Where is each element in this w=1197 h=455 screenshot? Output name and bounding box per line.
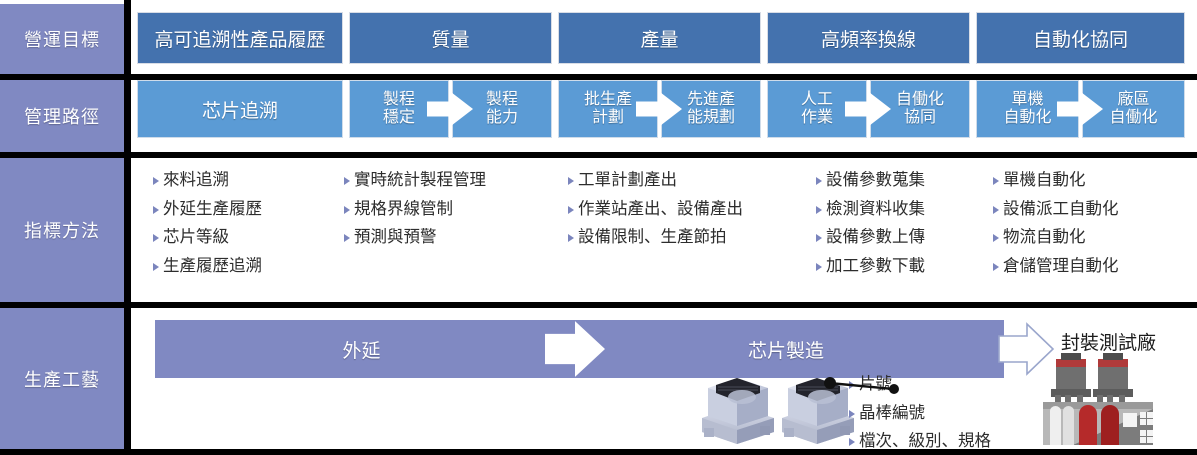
path-label-line2: 計劃: [584, 109, 632, 127]
triangle-bullet-icon: [153, 206, 159, 214]
list-item[interactable]: 檔次、級別、規格: [849, 433, 991, 450]
list-item-label: 芯片等級: [163, 229, 229, 246]
list-item-label: 生產履歷追溯: [163, 258, 262, 275]
callout-leader-line: [821, 376, 907, 400]
path-label-line1: 廠區: [1109, 91, 1157, 109]
list-item[interactable]: 實時統計製程管理: [344, 172, 486, 189]
metric-column-changeover: 設備參數蒐集 檢測資料收集 設備參數上傳 加工參數下載: [816, 172, 925, 286]
triangle-bullet-icon: [568, 177, 574, 185]
triangle-bullet-icon: [568, 234, 574, 242]
path-group-output: 批生產 計劃 先進產 能規劃: [558, 80, 761, 138]
path-label-line2: 作業: [801, 109, 833, 127]
triangle-bullet-icon: [816, 206, 822, 214]
path-label-line2: 自働化: [1109, 109, 1157, 127]
list-item-label: 作業站產出、設備產出: [578, 201, 743, 218]
triangle-bullet-icon: [344, 234, 350, 242]
triangle-bullet-icon: [993, 177, 999, 185]
triangle-bullet-icon: [993, 234, 999, 242]
list-item-label: 設備參數蒐集: [826, 172, 925, 189]
triangle-bullet-icon: [993, 206, 999, 214]
metric-column-quality: 實時統計製程管理 規格界線管制 預測與預警: [344, 172, 486, 258]
triangle-bullet-icon: [153, 234, 159, 242]
list-item[interactable]: 設備限制、生產節拍: [568, 229, 743, 246]
metric-column-automation: 單機自動化 設備派工自動化 物流自動化 倉儲管理自動化: [993, 172, 1119, 286]
list-item-label: 設備派工自動化: [1003, 201, 1119, 218]
list-item[interactable]: 物流自動化: [993, 229, 1119, 246]
objective-label: 產量: [640, 25, 678, 52]
objective-box-output[interactable]: 產量: [558, 12, 761, 64]
path-label-line1: 單機: [1003, 91, 1051, 109]
list-item[interactable]: 外延生產履歷: [153, 201, 262, 218]
sidebar-item-metric-methods[interactable]: 指標方法: [0, 158, 124, 302]
list-item[interactable]: 芯片等級: [153, 229, 262, 246]
list-item[interactable]: 工單計劃產出: [568, 172, 743, 189]
list-item-label: 檔次、級別、規格: [859, 433, 991, 450]
list-item-label: 晶棒編號: [859, 405, 925, 422]
triangle-bullet-icon: [344, 206, 350, 214]
objective-box-line-changeover[interactable]: 高頻率換線: [767, 12, 970, 64]
sidebar-item-label: 營運目標: [24, 26, 100, 52]
metric-methods-pane: 來料追溯 外延生產履歷 芯片等級 生產履歷追溯 實時統計製程管理 規格界線管制 …: [131, 158, 1197, 302]
list-item[interactable]: 生產履歷追溯: [153, 258, 262, 275]
list-item[interactable]: 設備派工自動化: [993, 201, 1119, 218]
triangle-bullet-icon: [816, 177, 822, 185]
objective-box-quality[interactable]: 質量: [349, 12, 552, 64]
objective-box-traceability[interactable]: 高可追溯性產品履歷: [137, 12, 343, 64]
triangle-bullet-icon: [993, 263, 999, 271]
diagram-canvas: 營運目標 管理路徑 指標方法 生產工藝 高可追溯性產品履歷 質量 產量 高頻率換…: [0, 0, 1197, 455]
list-item-label: 實時統計製程管理: [354, 172, 486, 189]
list-item[interactable]: 單機自動化: [993, 172, 1119, 189]
sidebar-divider: [124, 0, 131, 455]
sidebar-item-label: 管理路徑: [24, 103, 100, 129]
list-item-label: 設備參數上傳: [826, 229, 925, 246]
metric-column-output: 工單計劃產出 作業站產出、設備產出 設備限制、生產節拍: [568, 172, 743, 258]
list-item[interactable]: 預測與預警: [344, 229, 486, 246]
list-item[interactable]: 作業站產出、設備產出: [568, 201, 743, 218]
sidebar-item-label: 指標方法: [24, 217, 100, 243]
list-item-label: 檢測資料收集: [826, 201, 925, 218]
list-item-label: 倉儲管理自動化: [1003, 258, 1119, 275]
path-label-line2: 能力: [486, 109, 518, 127]
list-item-label: 外延生產履歷: [163, 201, 262, 218]
path-label-line1: 先進產: [687, 91, 735, 109]
triangle-bullet-icon: [849, 410, 855, 418]
row-divider-bottom: [0, 449, 1197, 455]
triangle-bullet-icon: [344, 177, 350, 185]
factory-icon: [1043, 353, 1153, 445]
path-label-line2: 穩定: [383, 109, 415, 127]
path-label: 芯片追溯: [202, 96, 278, 123]
triangle-bullet-icon: [568, 206, 574, 214]
path-group-quality: 製程 穩定 製程 能力: [349, 80, 552, 138]
path-label-line2: 能規劃: [687, 109, 735, 127]
sidebar-item-management-path[interactable]: 管理路徑: [0, 80, 124, 152]
list-item[interactable]: 檢測資料收集: [816, 201, 925, 218]
sidebar-item-production-process[interactable]: 生產工藝: [0, 308, 124, 449]
path-group-automation: 單機 自動化 廠區 自働化: [976, 80, 1185, 138]
triangle-bullet-icon: [153, 263, 159, 271]
list-item-label: 設備限制、生產節拍: [578, 229, 727, 246]
objective-label: 高可追溯性產品履歷: [154, 25, 325, 52]
list-item[interactable]: 倉儲管理自動化: [993, 258, 1119, 275]
list-item[interactable]: 設備參數蒐集: [816, 172, 925, 189]
list-item[interactable]: 加工參數下載: [816, 258, 925, 275]
list-item[interactable]: 晶棒編號: [849, 405, 991, 422]
path-label-line1: 人工: [801, 91, 833, 109]
triangle-bullet-icon: [153, 177, 159, 185]
list-item-label: 預測與預警: [354, 229, 437, 246]
process-end-label: 封裝測試廠: [1061, 328, 1156, 355]
wafer-cassette-icon: [694, 370, 780, 444]
objective-label: 高頻率換線: [821, 25, 916, 52]
path-label-line2: 協同: [896, 109, 944, 127]
path-box-chip-traceability[interactable]: 芯片追溯: [137, 80, 343, 138]
path-group-changeover: 人工 作業 自働化 協同: [767, 80, 970, 138]
process-bar-label: 芯片製造: [748, 336, 824, 363]
path-label-line1: 自働化: [896, 91, 944, 109]
triangle-bullet-icon: [816, 234, 822, 242]
path-label-line1: 製程: [486, 91, 518, 109]
process-bar-epitaxy[interactable]: 外延: [155, 320, 568, 378]
path-label-line2: 自動化: [1003, 109, 1051, 127]
list-item-label: 單機自動化: [1003, 172, 1086, 189]
triangle-bullet-icon: [816, 263, 822, 271]
sidebar-item-label: 生產工藝: [24, 366, 100, 392]
process-bar-label: 外延: [342, 336, 380, 363]
sidebar-item-operating-goals[interactable]: 營運目標: [0, 4, 124, 74]
list-item-label: 加工參數下載: [826, 258, 925, 275]
objective-box-automation-collaboration[interactable]: 自動化協同: [976, 12, 1185, 64]
list-item[interactable]: 來料追溯: [153, 172, 262, 189]
path-label-line1: 製程: [383, 91, 415, 109]
objective-label: 自動化協同: [1033, 25, 1128, 52]
objective-label: 質量: [431, 25, 469, 52]
management-path-pane: 芯片追溯 製程 穩定 製程 能力 批生產: [131, 80, 1197, 152]
list-item-label: 來料追溯: [163, 172, 229, 189]
list-item-label: 工單計劃產出: [578, 172, 677, 189]
list-item[interactable]: 設備參數上傳: [816, 229, 925, 246]
list-item-label: 規格界線管制: [354, 201, 453, 218]
objectives-pane: 高可追溯性產品履歷 質量 產量 高頻率換線 自動化協同: [131, 0, 1197, 74]
process-arrow-outline-icon: [997, 321, 1055, 377]
production-process-pane: 外延 芯片製造 封裝測試廠: [131, 308, 1197, 449]
path-label-line1: 批生產: [584, 91, 632, 109]
metric-column-traceability: 來料追溯 外延生產履歷 芯片等級 生產履歷追溯: [153, 172, 262, 286]
path-group-chip-traceability: 芯片追溯: [137, 80, 343, 138]
list-item-label: 物流自動化: [1003, 229, 1086, 246]
list-item[interactable]: 規格界線管制: [344, 201, 486, 218]
triangle-bullet-icon: [849, 438, 855, 446]
